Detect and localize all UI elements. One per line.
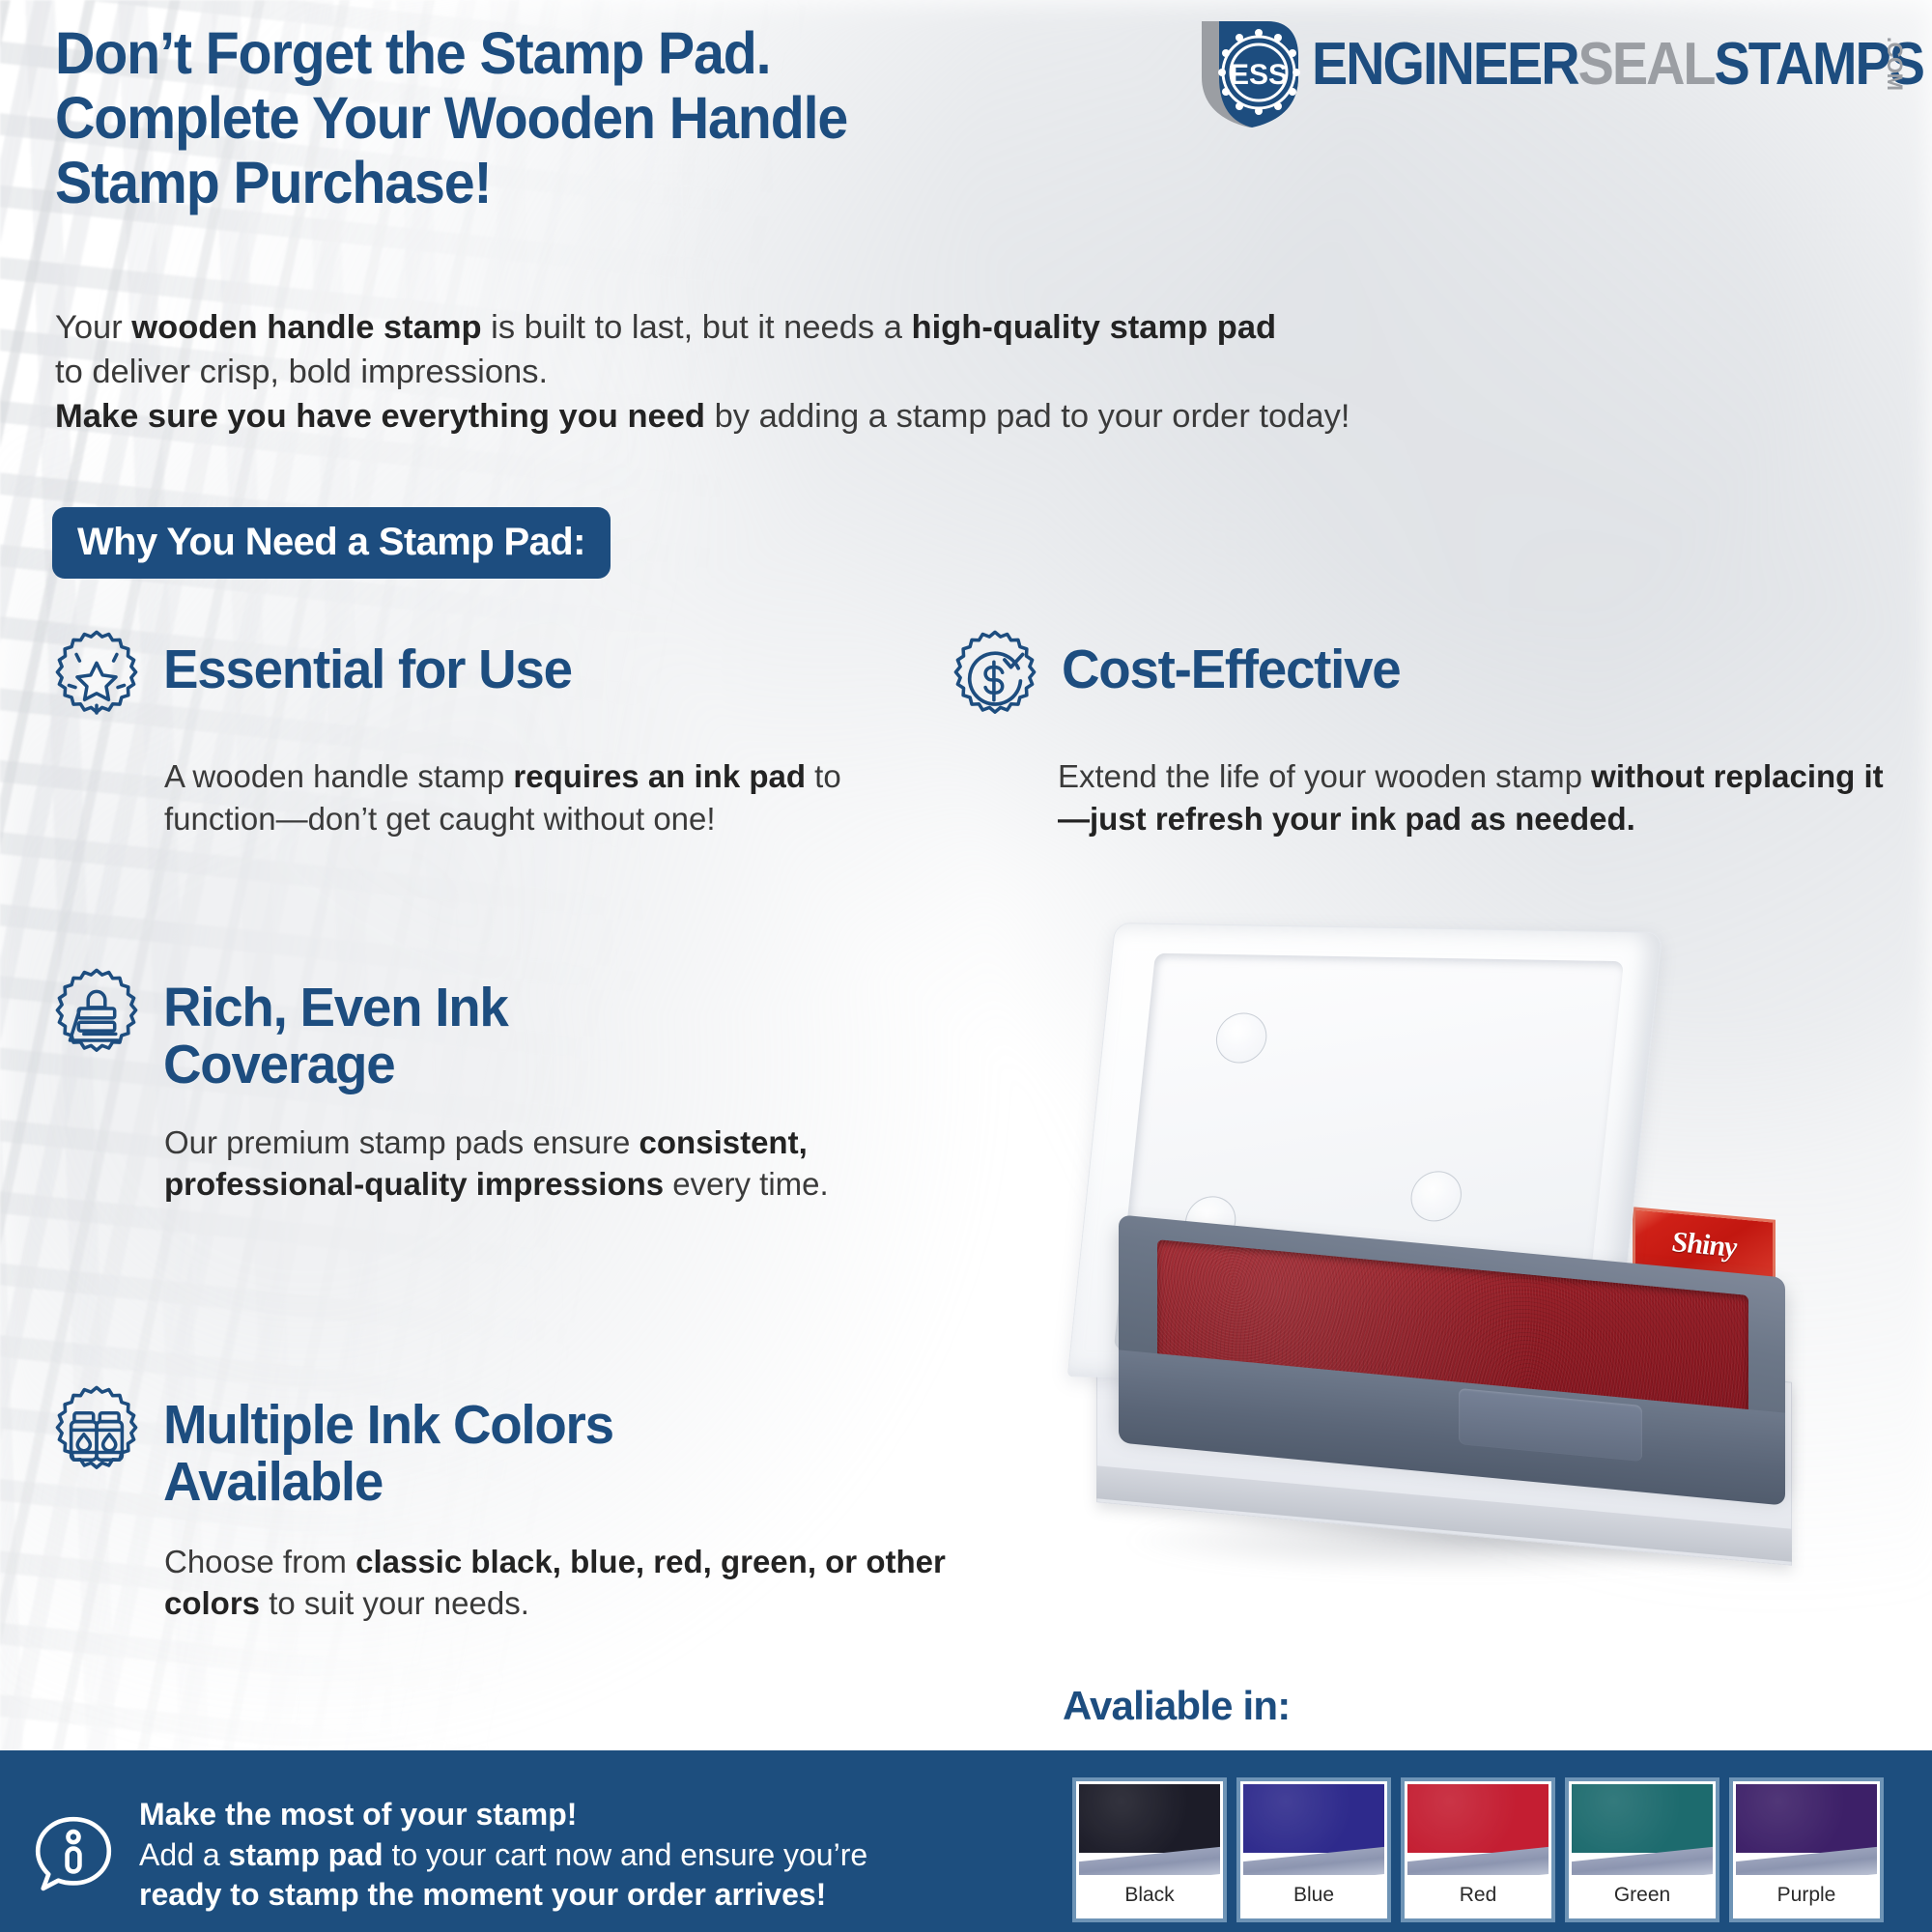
- svg-text:ESS: ESS: [1230, 59, 1288, 91]
- feature-body: A wooden handle stamp requires an ink pa…: [164, 755, 927, 840]
- feature-header: Multiple Ink Colors Available: [43, 1383, 1029, 1512]
- swatch-ink-surface: [1572, 1784, 1713, 1853]
- intro-line-2: to deliver crisp, bold impressions.: [55, 350, 1388, 394]
- swatch-label: Green: [1572, 1875, 1713, 1916]
- stamp-pad-product-photo: S·C Stamp pad for rubber stamps Almohadi…: [1063, 927, 1932, 1633]
- color-swatch-purple[interactable]: Purple: [1729, 1777, 1884, 1922]
- logo-word-engineer: ENGINEER: [1312, 31, 1578, 98]
- feature-header: Cost-Effective: [942, 628, 1918, 734]
- feature-cost-effective: Cost-Effective Extend the life of your w…: [942, 628, 1918, 840]
- lid-dimple: [1408, 1171, 1464, 1222]
- swatch-ink-surface: [1407, 1784, 1548, 1853]
- color-swatch-blue[interactable]: Blue: [1236, 1777, 1391, 1922]
- cta-block: Make the most of your stamp! Add a stamp…: [29, 1795, 867, 1916]
- feature-header: Essential for Use: [43, 628, 942, 734]
- ink-bottles-badge-icon: [43, 1383, 150, 1490]
- feature-title: Multiple Ink Colors Available: [163, 1383, 776, 1512]
- color-swatch-black[interactable]: Black: [1072, 1777, 1227, 1922]
- color-swatch-red[interactable]: Red: [1401, 1777, 1555, 1922]
- logo-word-seal: SEAL: [1578, 31, 1715, 98]
- infographic-page: Don’t Forget the Stamp Pad. Complete You…: [0, 0, 1932, 1932]
- info-bubble-icon: [29, 1810, 118, 1899]
- rubber-stamp-badge-icon: [43, 966, 150, 1072]
- feature-title-line-2: Available: [163, 1454, 776, 1511]
- swatch-chip: [1572, 1784, 1713, 1875]
- headline-line-1: Don’t Forget the Stamp Pad.: [55, 21, 1172, 86]
- feature-title: Essential for Use: [163, 628, 572, 698]
- intro-line-1: Your wooden handle stamp is built to las…: [55, 305, 1388, 350]
- cta-line-1: Make the most of your stamp!: [139, 1795, 867, 1835]
- headline-line-2: Complete Your Wooden Handle: [55, 86, 1172, 151]
- cta-text: Make the most of your stamp! Add a stamp…: [139, 1795, 867, 1916]
- feature-multiple-ink-colors: Multiple Ink Colors Available Choose fro…: [43, 1383, 1029, 1625]
- ess-shield-gear-icon: ESS: [1198, 14, 1306, 129]
- lid-dimple: [1213, 1012, 1269, 1064]
- cta-line-2: Add a stamp pad to your cart now and ens…: [139, 1835, 867, 1876]
- intro-line-3: Make sure you have everything you need b…: [55, 394, 1388, 439]
- feature-title: Rich, Even Ink Coverage: [163, 966, 701, 1094]
- logo-wordmark: ENGINEERSEALSTAMPS: [1312, 35, 1923, 95]
- feature-essential-for-use: Essential for Use A wooden handle stamp …: [43, 628, 942, 840]
- feature-rich-even-ink-coverage: Rich, Even Ink Coverage Our premium stam…: [43, 966, 913, 1206]
- swatch-chip: [1407, 1784, 1548, 1875]
- swatch-chip: [1736, 1784, 1877, 1875]
- feature-title-line-1: Multiple Ink Colors: [163, 1397, 776, 1454]
- feature-body: Extend the life of your wooden stamp wit…: [1058, 755, 1908, 840]
- feature-title-line-1: Rich, Even Ink: [163, 980, 701, 1037]
- feature-body: Choose from classic black, blue, red, gr…: [164, 1541, 1024, 1626]
- shiny-brand-label: Shiny: [1672, 1226, 1737, 1264]
- available-in-title: Avaliable in:: [1063, 1683, 1290, 1729]
- cta-line-3: ready to stamp the moment your order arr…: [139, 1875, 867, 1916]
- why-you-need-badge: Why You Need a Stamp Pad:: [52, 507, 611, 579]
- header: Don’t Forget the Stamp Pad. Complete You…: [0, 0, 1932, 261]
- swatch-label: Black: [1079, 1875, 1220, 1916]
- swatch-label: Blue: [1243, 1875, 1384, 1916]
- feature-title: Cost-Effective: [1062, 628, 1400, 698]
- logo-dotcom-suffix: .COM: [1884, 37, 1905, 90]
- swatch-label: Red: [1407, 1875, 1548, 1916]
- swatch-ink-surface: [1243, 1784, 1384, 1853]
- color-swatch-list: BlackBlueRedGreenPurple: [1072, 1777, 1884, 1922]
- brand-logo[interactable]: ESS ENGINEERSEALSTAMPS .COM: [1198, 14, 1922, 131]
- swatch-chip: [1079, 1784, 1220, 1875]
- swatch-chip: [1243, 1784, 1384, 1875]
- swatch-ink-surface: [1736, 1784, 1877, 1853]
- color-swatch-green[interactable]: Green: [1565, 1777, 1719, 1922]
- feature-body: Our premium stamp pads ensure consistent…: [164, 1122, 908, 1207]
- feature-title-line-2: Coverage: [163, 1037, 701, 1094]
- dollar-check-badge-icon: [942, 628, 1048, 734]
- swatch-label: Purple: [1736, 1875, 1877, 1916]
- swatch-ink-surface: [1079, 1784, 1220, 1853]
- feature-header: Rich, Even Ink Coverage: [43, 966, 913, 1094]
- intro-paragraph: Your wooden handle stamp is built to las…: [55, 305, 1388, 440]
- page-title: Don’t Forget the Stamp Pad. Complete You…: [55, 21, 1172, 215]
- headline-line-3: Stamp Purchase!: [55, 151, 1172, 215]
- star-badge-icon: [43, 628, 150, 734]
